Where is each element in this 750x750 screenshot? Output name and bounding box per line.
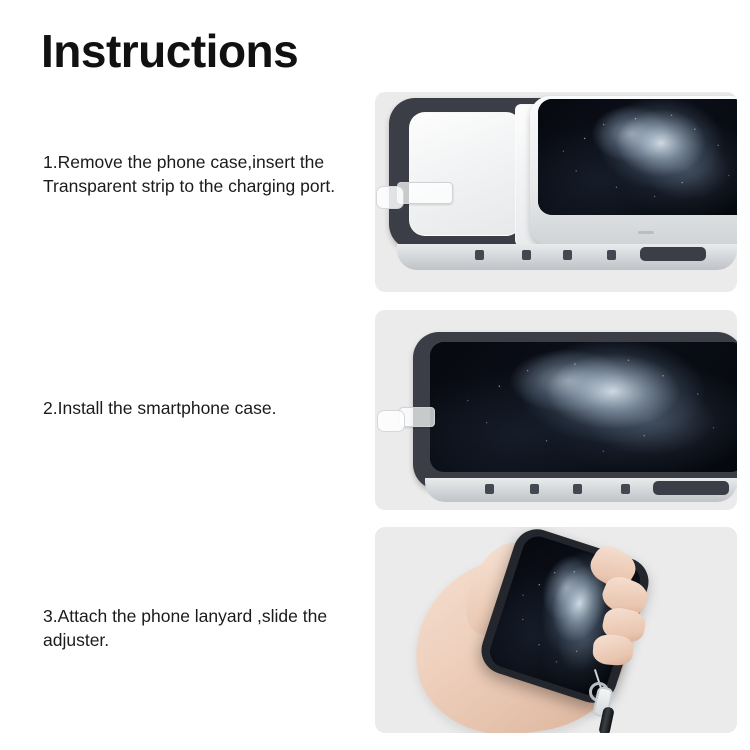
case-rail-stud xyxy=(573,484,582,494)
instruction-step-1-image xyxy=(375,92,737,292)
instruction-step-2-image xyxy=(375,310,737,510)
case-clear-backplate xyxy=(409,112,522,236)
transparent-strip-tab xyxy=(376,186,404,209)
smartphone-screen xyxy=(538,99,737,215)
transparent-strip-tab xyxy=(377,410,405,432)
case-installed-scene xyxy=(375,310,737,510)
case-rail-stud xyxy=(563,250,572,260)
case-rail-button-block xyxy=(653,481,729,495)
case-rail-stud xyxy=(607,250,616,260)
case-rail-stud xyxy=(530,484,539,494)
instruction-step-3-image xyxy=(375,527,737,733)
instruction-step-3-text: 3.Attach the phone lanyard ,slide the ad… xyxy=(43,604,363,652)
case-and-phone-scene xyxy=(375,92,737,292)
wallpaper-wave-image xyxy=(430,342,737,472)
instruction-step-2-text: 2.Install the smartphone case. xyxy=(43,396,363,420)
case-front-rail xyxy=(425,478,737,502)
case-front-rail xyxy=(397,244,737,270)
wallpaper-wave-image xyxy=(538,99,737,215)
instruction-step-1-text: 1.Remove the phone case,insert the Trans… xyxy=(43,150,363,198)
case-rail-stud xyxy=(621,484,630,494)
page-title: Instructions xyxy=(41,26,298,77)
smartphone-screen xyxy=(430,342,737,472)
case-rail-stud xyxy=(522,250,531,260)
case-rail-button-block xyxy=(640,247,706,261)
case-rail-stud xyxy=(475,250,484,260)
phone-speaker-grille xyxy=(638,231,654,234)
hand-finger xyxy=(592,634,634,667)
transparent-charging-strip xyxy=(397,182,453,204)
case-rail-stud xyxy=(485,484,494,494)
hand-holding-phone-scene xyxy=(375,527,737,733)
